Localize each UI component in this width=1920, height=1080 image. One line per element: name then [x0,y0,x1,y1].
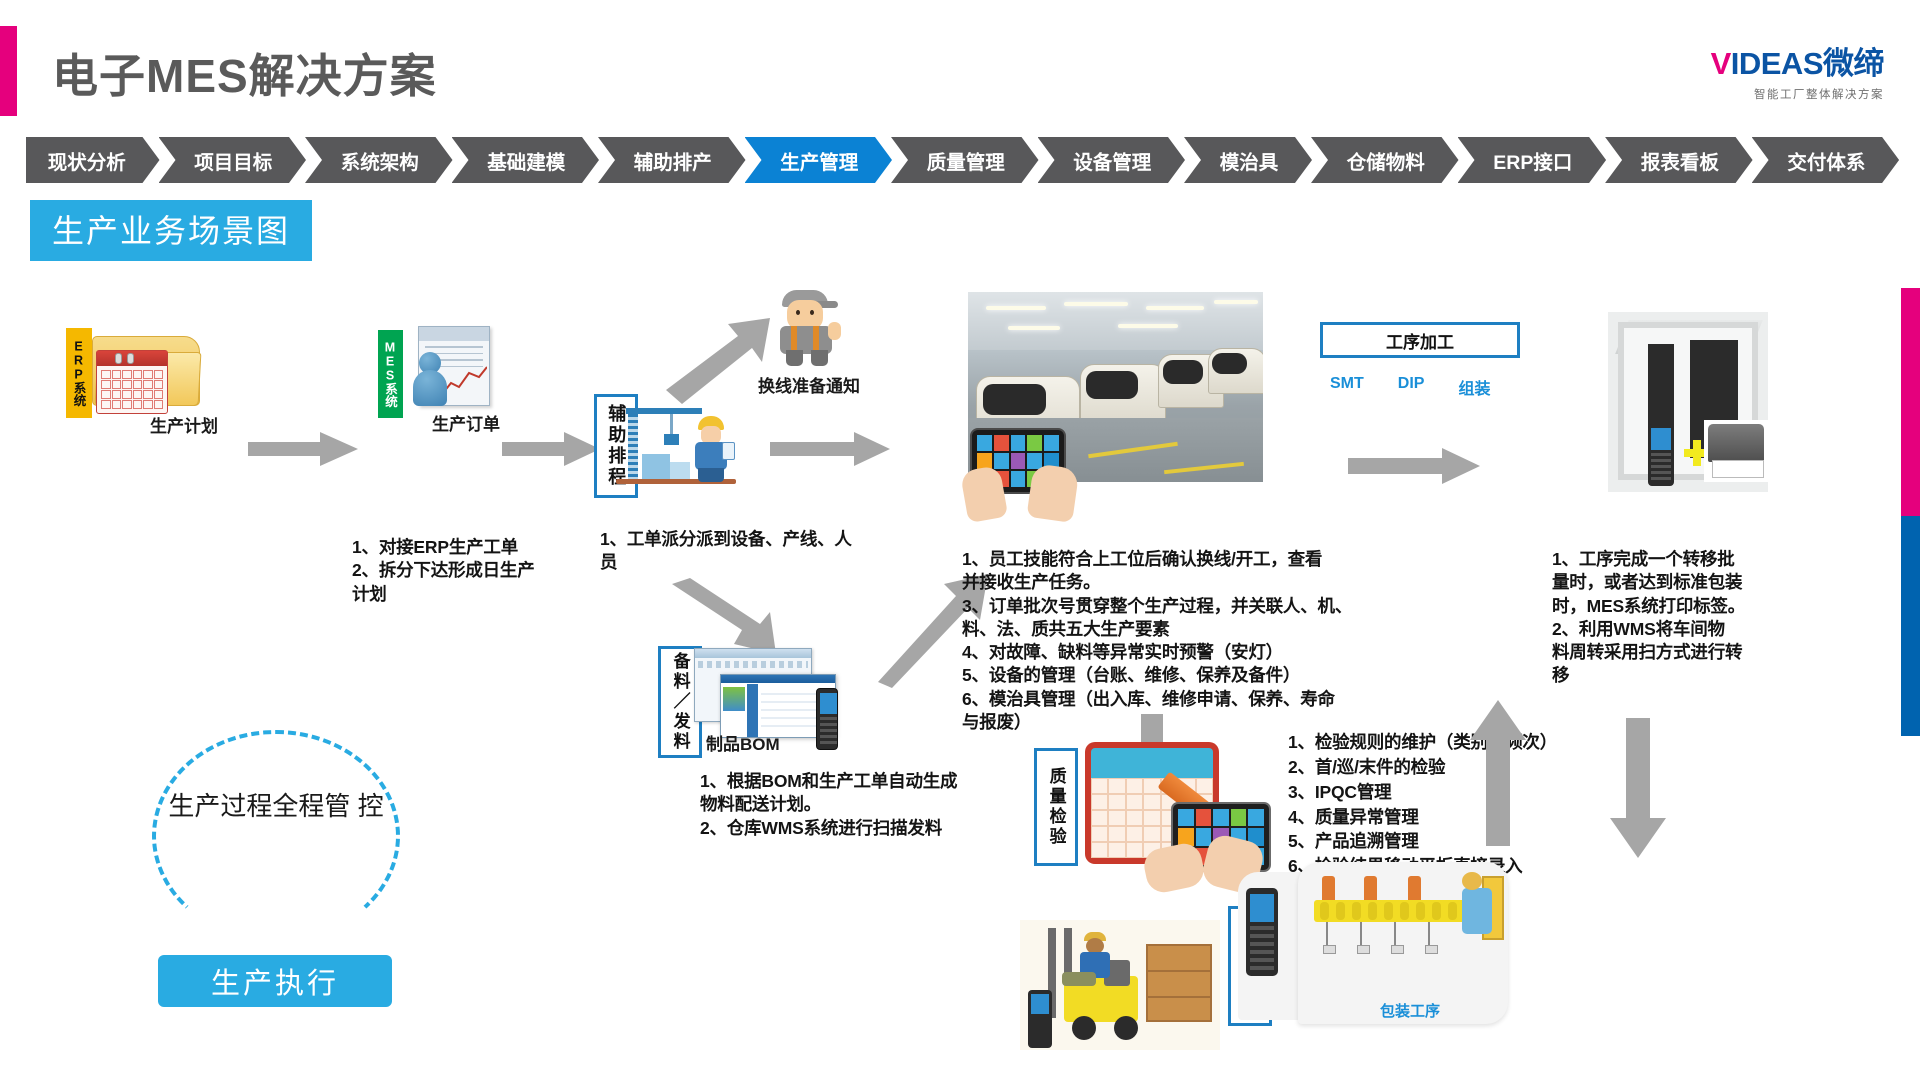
nav-chevron-8[interactable]: 设备管理 [1038,137,1186,183]
arrow-mes-to-schedule [502,432,600,466]
nav-chevron-label: 生产管理 [780,146,858,175]
mes-notes: 1、对接ERP生产工单 2、拆分下达形成日生产 计划 [352,536,582,606]
nav-chevron-9[interactable]: 模治具 [1184,137,1312,183]
quality-calendar-tablet-icon [1085,742,1285,890]
nav-chevron-6[interactable]: 生产管理 [745,137,893,183]
production-execution-label: 生产执行 [211,960,339,1002]
nav-chevron-label: 项目目标 [194,146,272,175]
logo-v-mark: V [1711,46,1731,81]
accent-bar-right-pink [1901,288,1920,516]
packaging-label: 包装工序 [1330,1000,1490,1021]
process-tags: SMT DIP 组装 [1330,375,1530,399]
crane-engineer-icon [612,402,740,488]
production-execution-button[interactable]: 生产执行 [158,955,392,1007]
nav-chevron-label: 质量管理 [927,146,1005,175]
production-notes: 1、员工技能符合上工位后确认换线/开工，查看 并接收生产任务。 3、订单批次号贯… [962,548,1432,734]
nav-chevron-1[interactable]: 现状分析 [26,137,160,183]
arrow-transfer-to-packaging [1610,718,1666,858]
nav-chevron-4[interactable]: 基础建模 [452,137,600,183]
brand-logo: VIDEAS微缔 智能工厂整体解决方案 [1711,48,1884,102]
nav-chevron-11[interactable]: ERP接口 [1458,137,1607,183]
logo-chinese-name: 微缔 [1823,46,1884,81]
nav-chevron-label: 基础建模 [487,146,565,175]
material-node-label: 备料／发料 [669,652,690,752]
mes-caption: 生产订单 [432,410,500,435]
process-node: 工序加工 [1320,322,1520,358]
process-tag-smt: SMT [1330,375,1364,399]
nav-chevron-label: 现状分析 [48,146,126,175]
logo-tagline: 智能工厂整体解决方案 [1711,86,1884,102]
user-avatar-icon [410,352,450,406]
nav-chevron-5[interactable]: 辅助排产 [598,137,746,183]
arrow-factory-to-process [1348,448,1480,484]
process-tag-assembly: 组装 [1458,375,1490,399]
process-node-label: 工序加工 [1386,328,1454,353]
arrow-quality-to-transfer [1470,700,1526,846]
page-title: 电子MES解决方案 [52,40,437,106]
nav-chevron-label: 报表看板 [1641,146,1719,175]
logo-wordmark: IDEAS [1731,46,1823,81]
nav-chevron-label: 系统架构 [341,146,419,175]
section-title: 生产业务场景图 [30,200,312,261]
nav-chevron-10[interactable]: 仓储物料 [1311,137,1459,183]
arrow-erp-to-mes [248,432,358,466]
slide-root: 电子MES解决方案 VIDEAS微缔 智能工厂整体解决方案 现状分析项目目标系统… [0,0,1920,1080]
loop-caption: 生产过程全程管 控 [150,790,402,823]
mes-system-label: MES系统 [381,341,400,408]
calendar-icon [96,350,168,414]
erp-system-label: ERP系统 [70,340,89,407]
forklift-scanner-icon [1028,990,1052,1048]
packaging-scanner-icon [1246,888,1278,976]
erp-system-tab: ERP系统 [66,328,92,418]
tablet-in-hands-icon [964,428,1084,520]
nav-chevron-7[interactable]: 质量管理 [891,137,1039,183]
schedule-notes: 1、工单派分派到设备、产线、人 员 [600,528,900,575]
nav-chevron-label: 辅助排产 [634,146,712,175]
erp-caption: 生产计划 [150,412,218,437]
nav-chevron-3[interactable]: 系统架构 [305,137,453,183]
accent-bar-left [0,26,17,116]
label-printer-icon [1704,420,1778,482]
material-notes: 1、根据BOM和生产工单自动生成 物料配送计划。 2、仓库WMS系统进行扫描发料 [700,770,1060,840]
chevron-nav: 现状分析项目目标系统架构基础建模辅助排产生产管理质量管理设备管理模治具仓储物料E… [26,137,1898,183]
nav-chevron-2[interactable]: 项目目标 [159,137,307,183]
accent-bar-right-blue [1901,516,1920,736]
nav-chevron-label: 模治具 [1220,146,1279,175]
quality-node: 质量检验 [1034,748,1078,866]
material-caption: 制品BOM [706,730,780,755]
nav-chevron-label: 仓储物料 [1347,146,1425,175]
worker-thumbsup-icon [772,288,844,368]
nav-chevron-12[interactable]: 报表看板 [1605,137,1753,183]
mes-system-tab: MES系统 [378,330,403,418]
nav-chevron-label: ERP接口 [1493,146,1572,175]
transfer-notes: 1、工序完成一个转移批 量时，或者达到标准包装 时，MES系统打印标签。 2、利… [1552,548,1762,688]
process-loop-circle [152,730,400,942]
handheld-scanner-icon [1648,424,1674,486]
changeover-caption: 换线准备通知 [758,372,860,397]
quality-node-label: 质量检验 [1045,767,1066,847]
nav-chevron-label: 交付体系 [1787,146,1865,175]
arrow-schedule-to-factory [770,432,890,466]
process-tag-dip: DIP [1398,375,1425,399]
nav-chevron-label: 设备管理 [1073,146,1151,175]
nav-chevron-13[interactable]: 交付体系 [1752,137,1900,183]
